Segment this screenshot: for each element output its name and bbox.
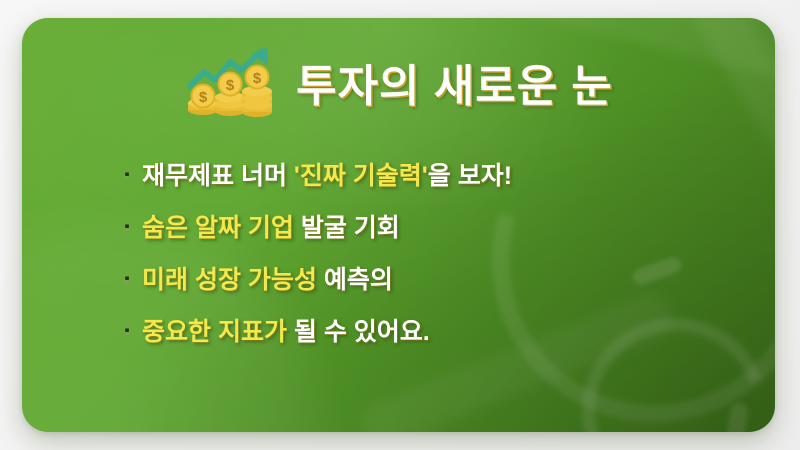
text-segment: 될 수 있어요. (287, 318, 430, 346)
text-segment: 예측의 (317, 266, 393, 294)
decorative-dash-2 (723, 402, 749, 432)
growth-coins-chart-icon: $ $ $ (184, 46, 276, 118)
list-item: ▪ 숨은 알짜 기업 발굴 기회 (118, 200, 738, 252)
page-title: 투자의 새로운 눈 (296, 50, 613, 114)
list-item-text: 미래 성장 가능성 예측의 (142, 260, 393, 296)
text-segment: 을 보자! (428, 162, 512, 190)
bullet-list: ▪ 재무제표 너머 '진짜 기술력'을 보자! ▪ 숨은 알짜 기업 발굴 기회… (118, 148, 738, 356)
text-segment-highlight: 숨은 알짜 기업 (142, 214, 294, 242)
content-card: $ $ $ 투자의 새로운 눈 ▪ (22, 18, 775, 432)
svg-text:$: $ (253, 70, 262, 87)
list-item-text: 중요한 지표가 될 수 있어요. (142, 312, 430, 348)
svg-text:$: $ (199, 89, 208, 106)
list-item: ▪ 재무제표 너머 '진짜 기술력'을 보자! (118, 148, 738, 200)
list-item-text: 재무제표 너머 '진짜 기술력'을 보자! (142, 156, 512, 192)
text-segment-highlight: 미래 성장 가능성 (142, 266, 317, 294)
bullet-square-icon: ▪ (118, 219, 136, 234)
text-segment: 발굴 기회 (294, 214, 400, 242)
text-segment-highlight: '진짜 기술력' (294, 162, 428, 190)
bullet-square-icon: ▪ (118, 323, 136, 338)
svg-text:$: $ (226, 77, 235, 94)
list-item-text: 숨은 알짜 기업 발굴 기회 (142, 208, 400, 244)
text-segment: 재무제표 너머 (142, 162, 294, 190)
list-item: ▪ 중요한 지표가 될 수 있어요. (118, 304, 738, 356)
card-header: $ $ $ 투자의 새로운 눈 (22, 46, 775, 118)
slide-canvas: $ $ $ 투자의 새로운 눈 ▪ (0, 0, 800, 450)
list-item: ▪ 미래 성장 가능성 예측의 (118, 252, 738, 304)
bullet-square-icon: ▪ (118, 271, 136, 286)
bullet-square-icon: ▪ (118, 167, 136, 182)
text-segment-highlight: 중요한 지표가 (142, 318, 287, 346)
